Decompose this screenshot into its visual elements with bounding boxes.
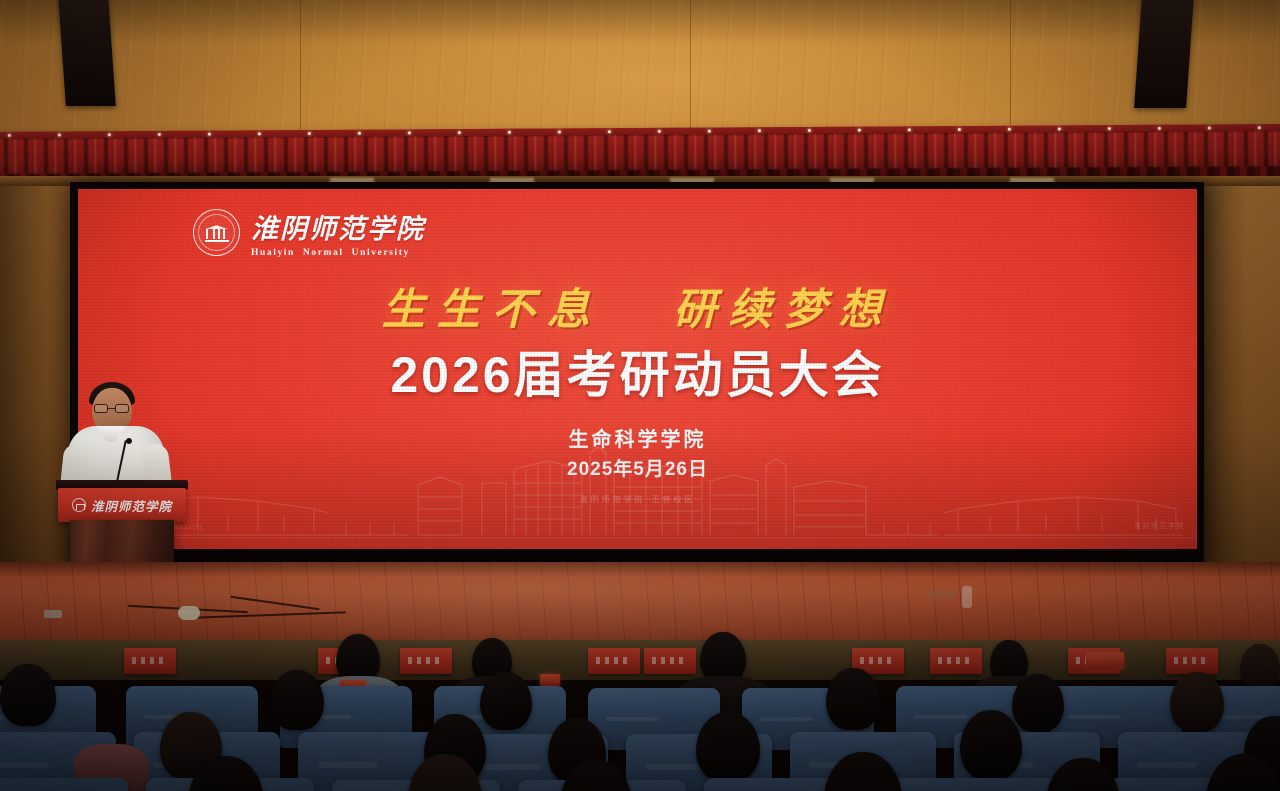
audience-head <box>270 670 324 730</box>
audience-area <box>0 628 1280 791</box>
audience-head <box>960 710 1022 780</box>
slide-date: 2025年5月26日 <box>78 454 1197 481</box>
university-logo-lockup: 淮阴师范学院 Huaiyin Normal University <box>193 207 425 258</box>
auditorium-seat[interactable] <box>890 778 1058 791</box>
podium-front-panel: 淮阴师范学院 <box>58 488 186 522</box>
phone-screen-glow <box>1086 652 1124 670</box>
audience-head <box>1012 674 1064 732</box>
floor-object <box>44 610 62 618</box>
audience-head <box>1170 672 1224 732</box>
water-bottle <box>962 586 972 608</box>
microphone-head <box>126 438 132 444</box>
campus-art-text-right: 淮阴师范学院 <box>1134 521 1185 531</box>
audience-head <box>696 712 760 782</box>
wall-seam <box>690 0 691 148</box>
slide-organizer: 生命科学学院 <box>78 423 1197 452</box>
stage-valance-curtain <box>0 124 1280 184</box>
tagline-part-2: 研续梦想 <box>673 287 893 334</box>
audience-head <box>0 664 56 726</box>
floor-object <box>926 590 956 598</box>
university-name-cn: 淮阴师范学院 <box>251 207 425 246</box>
conference-photo-scene: 淮阴师范学院 Huaiyin Normal University 生生不息 研续… <box>0 0 1280 791</box>
university-seal-icon <box>72 498 86 512</box>
acoustic-panel-right <box>1134 0 1194 108</box>
auditorium-seat[interactable] <box>0 778 128 791</box>
floor-light-fixture <box>178 606 200 620</box>
led-screen: 淮阴师范学院 Huaiyin Normal University 生生不息 研续… <box>78 189 1197 549</box>
slide-main-title: 2026届考研动员大会 <box>78 335 1197 407</box>
podium-university-name: 淮阴师范学院 <box>91 496 172 515</box>
university-crest-icon <box>193 209 240 256</box>
audience-head <box>826 668 880 730</box>
wall-seam <box>300 0 301 148</box>
side-wall-right <box>1197 186 1280 566</box>
audience-head <box>480 672 532 730</box>
campus-art-caption: 淮阴师范学院·王营校区 <box>78 494 1197 505</box>
tagline-part-1: 生生不息 <box>382 287 602 334</box>
speaker-glasses <box>94 404 131 413</box>
acoustic-panel-left <box>58 0 116 106</box>
slide-tagline: 生生不息 研续梦想 <box>78 275 1197 337</box>
audience-head <box>1240 644 1280 690</box>
phone-screen-glow <box>540 674 560 686</box>
university-name-en: Huaiyin Normal University <box>251 248 425 258</box>
